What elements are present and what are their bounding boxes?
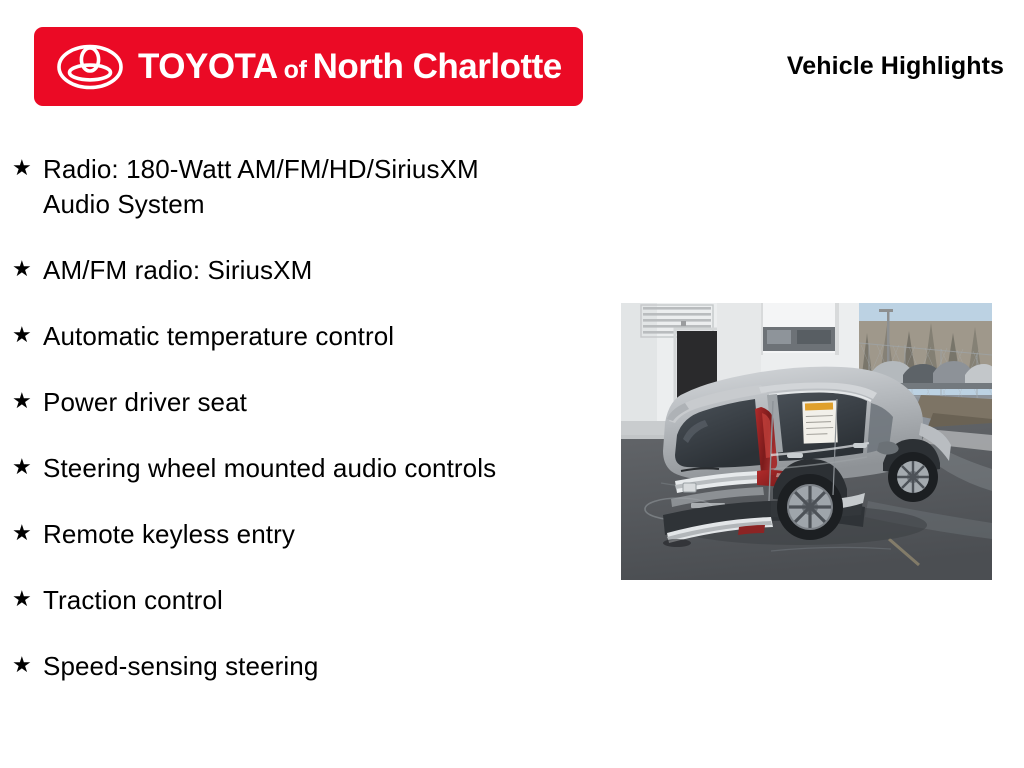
list-item: ★ Radio: 180-Watt AM/FM/HD/SiriusXM Audi… [12,152,612,222]
star-bullet-icon: ★ [12,649,43,680]
star-bullet-icon: ★ [12,451,43,482]
page-title: Vehicle Highlights [787,52,1004,81]
list-item: ★ Power driver seat [12,385,612,420]
list-item-label: Speed-sensing steering [43,649,318,684]
logo-brand-text: TOYOTA [138,47,278,87]
vehicle-highlights-list: ★ Radio: 180-Watt AM/FM/HD/SiriusXM Audi… [12,152,612,715]
list-item: ★ Traction control [12,583,612,618]
vehicle-photo [621,303,992,580]
toyota-emblem [56,44,124,90]
list-item: ★ Automatic temperature control [12,319,612,354]
star-bullet-icon: ★ [12,152,43,183]
list-item-label: AM/FM radio: SiriusXM [43,253,312,288]
star-bullet-icon: ★ [12,517,43,548]
star-bullet-icon: ★ [12,385,43,416]
list-item-label: Automatic temperature control [43,319,394,354]
star-bullet-icon: ★ [12,583,43,614]
list-item: ★ Remote keyless entry [12,517,612,552]
dealer-logo-badge: TOYOTA of North Charlotte [34,27,583,106]
list-item-label: Remote keyless entry [43,517,295,552]
logo-wordmark: TOYOTA of North Charlotte [138,47,562,87]
logo-store-text: North Charlotte [313,47,562,87]
list-item-label: Power driver seat [43,385,247,420]
list-item: ★ Speed-sensing steering [12,649,612,684]
vehicle-photo-illustration [621,303,992,580]
star-bullet-icon: ★ [12,319,43,350]
list-item: ★ Steering wheel mounted audio controls [12,451,612,486]
list-item: ★ AM/FM radio: SiriusXM [12,253,612,288]
star-bullet-icon: ★ [12,253,43,284]
list-item-label: Steering wheel mounted audio controls [43,451,496,486]
logo-connector-text: of [284,56,307,85]
list-item-label: Traction control [43,583,223,618]
list-item-label: Radio: 180-Watt AM/FM/HD/SiriusXM Audio … [43,152,548,222]
